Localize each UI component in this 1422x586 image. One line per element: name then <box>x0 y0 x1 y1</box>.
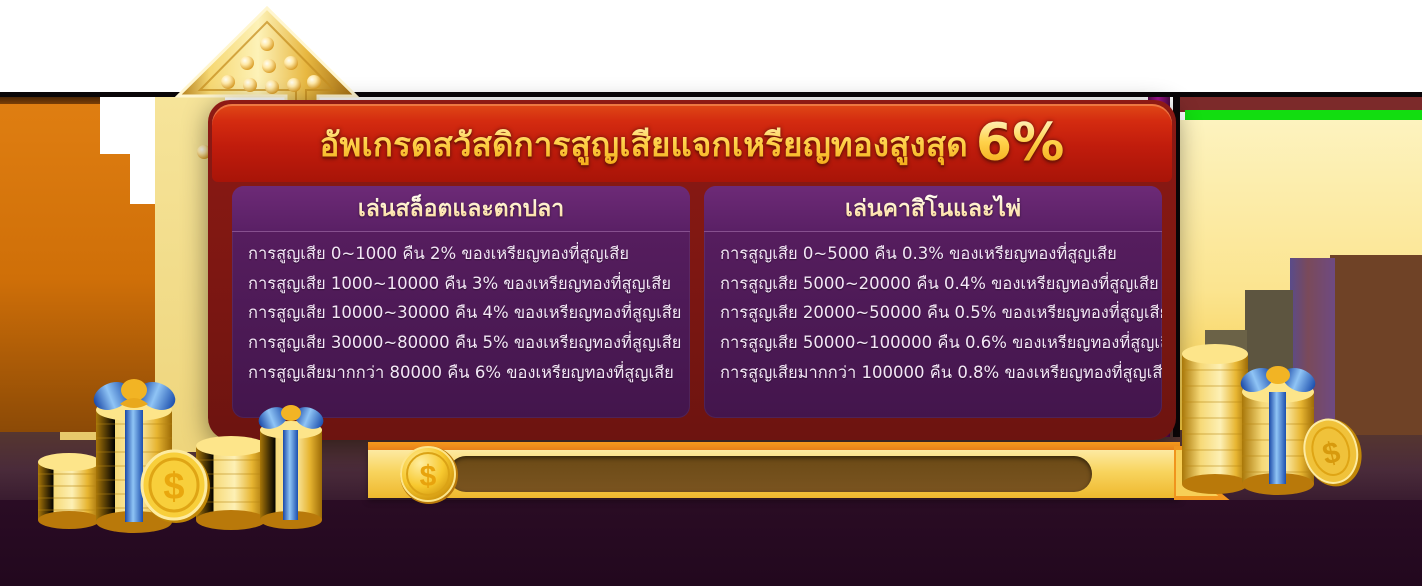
promo-title-percent: 6% <box>968 113 1065 173</box>
coin-pile-right: $ <box>1172 330 1372 514</box>
list-item: การสูญเสีย 20000~50000 คืน 0.5% ของเหรีย… <box>720 303 1146 324</box>
column-header-slots-fishing: เล่นสล็อตและตกปลา <box>232 186 690 232</box>
list-item: การสูญเสีย 0~1000 คืน 2% ของเหรียญทองที่… <box>248 244 674 265</box>
rebate-columns: เล่นสล็อตและตกปลา การสูญเสีย 0~1000 คืน … <box>232 186 1162 418</box>
list-item: การสูญเสีย 50000~100000 คืน 0.6% ของเหรี… <box>720 333 1146 354</box>
dollar-coin-icon: $ <box>142 451 210 523</box>
column-body-casino-cards: การสูญเสีย 0~5000 คืน 0.3% ของเหรียญทองท… <box>704 232 1162 391</box>
coin-stack-icon: $ <box>24 352 334 542</box>
list-item: การสูญเสีย 0~5000 คืน 0.3% ของเหรียญทองท… <box>720 244 1146 265</box>
list-item: การสูญเสีย 10000~30000 คืน 4% ของเหรียญท… <box>248 303 674 324</box>
coin-pile-left: $ <box>24 352 334 546</box>
promo-banner: อัพเกรดสวัสดิการสูญเสียแจกเหรียญทองสูงสุ… <box>0 0 1422 586</box>
column-header-casino-cards: เล่นคาสิโนและไพ่ <box>704 186 1162 232</box>
promo-code-slot[interactable] <box>448 456 1092 492</box>
bottom-gold-bar: $ <box>368 442 1208 504</box>
promo-title-bar: อัพเกรดสวัสดิการสูญเสียแจกเหรียญทองสูงสุ… <box>212 104 1172 182</box>
column-header-label: เล่นคาสิโนและไพ่ <box>845 191 1021 227</box>
dollar-coin-icon: $ <box>398 444 460 506</box>
promo-title-text: อัพเกรดสวัสดิการสูญเสียแจกเหรียญทองสูงสุ… <box>319 125 967 164</box>
list-item: การสูญเสีย 1000~10000 คืน 3% ของเหรียญทอ… <box>248 274 674 295</box>
column-header-label: เล่นสล็อตและตกปลา <box>358 191 564 227</box>
rebate-column-casino-cards: เล่นคาสิโนและไพ่ การสูญเสีย 0~5000 คืน 0… <box>704 186 1162 418</box>
page-title: อัพเกรดสวัสดิการสูญเสียแจกเหรียญทองสูงสุ… <box>309 117 1074 169</box>
svg-text:$: $ <box>420 460 437 493</box>
svg-text:$: $ <box>163 466 184 508</box>
gold-bar-highlight <box>368 442 1180 450</box>
list-item: การสูญเสีย 5000~20000 คืน 0.4% ของเหรียญ… <box>720 274 1146 295</box>
coin-stack-icon: $ <box>1172 330 1372 510</box>
list-item: การสูญเสียมากกว่า 100000 คืน 0.8% ของเหร… <box>720 363 1146 384</box>
list-item: การสูญเสีย 30000~80000 คืน 5% ของเหรียญท… <box>248 333 674 354</box>
